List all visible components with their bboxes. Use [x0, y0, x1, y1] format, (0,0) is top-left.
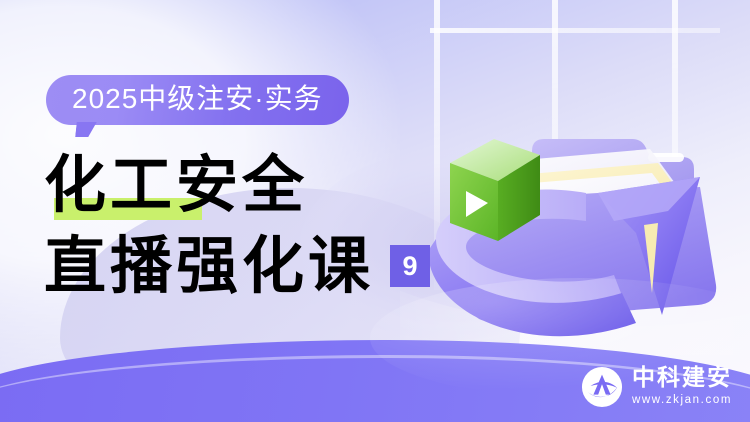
headline-line-1: 化工安全 — [44, 152, 464, 219]
headline-line-1-text: 化工安全 — [44, 148, 308, 221]
brand-logo: 中科建安 www.zkjan.com — [581, 366, 732, 408]
brand-logo-text: 中科建安 www.zkjan.com — [632, 367, 732, 407]
course-tag: 2025中级注安·实务 — [46, 75, 349, 125]
headline-line-2-text: 直播强化课 — [44, 233, 374, 300]
window-pane-bar-2 — [552, 0, 558, 290]
course-promo-banner: 2025中级注安·实务 化工安全 直播强化课 9 中科建安 www.zkjan.… — [0, 0, 750, 422]
course-tag-bubble-tail — [75, 122, 97, 137]
play-triangle-icon — [466, 191, 488, 217]
zkjan-circular-logo-icon — [581, 366, 623, 408]
brand-url: www.zkjan.com — [632, 395, 732, 407]
headline-line-2: 直播强化课 9 — [44, 233, 464, 300]
headline-block: 化工安全 直播强化课 9 — [44, 152, 464, 300]
brand-name: 中科建安 — [632, 367, 732, 390]
window-pane-bar-3 — [672, 0, 678, 280]
course-tag-bubble: 2025中级注安·实务 — [46, 75, 349, 125]
course-tag-label: 2025中级注安·实务 — [72, 83, 323, 114]
episode-number-badge: 9 — [390, 245, 430, 287]
window-pane-bar-horizontal — [430, 28, 720, 33]
